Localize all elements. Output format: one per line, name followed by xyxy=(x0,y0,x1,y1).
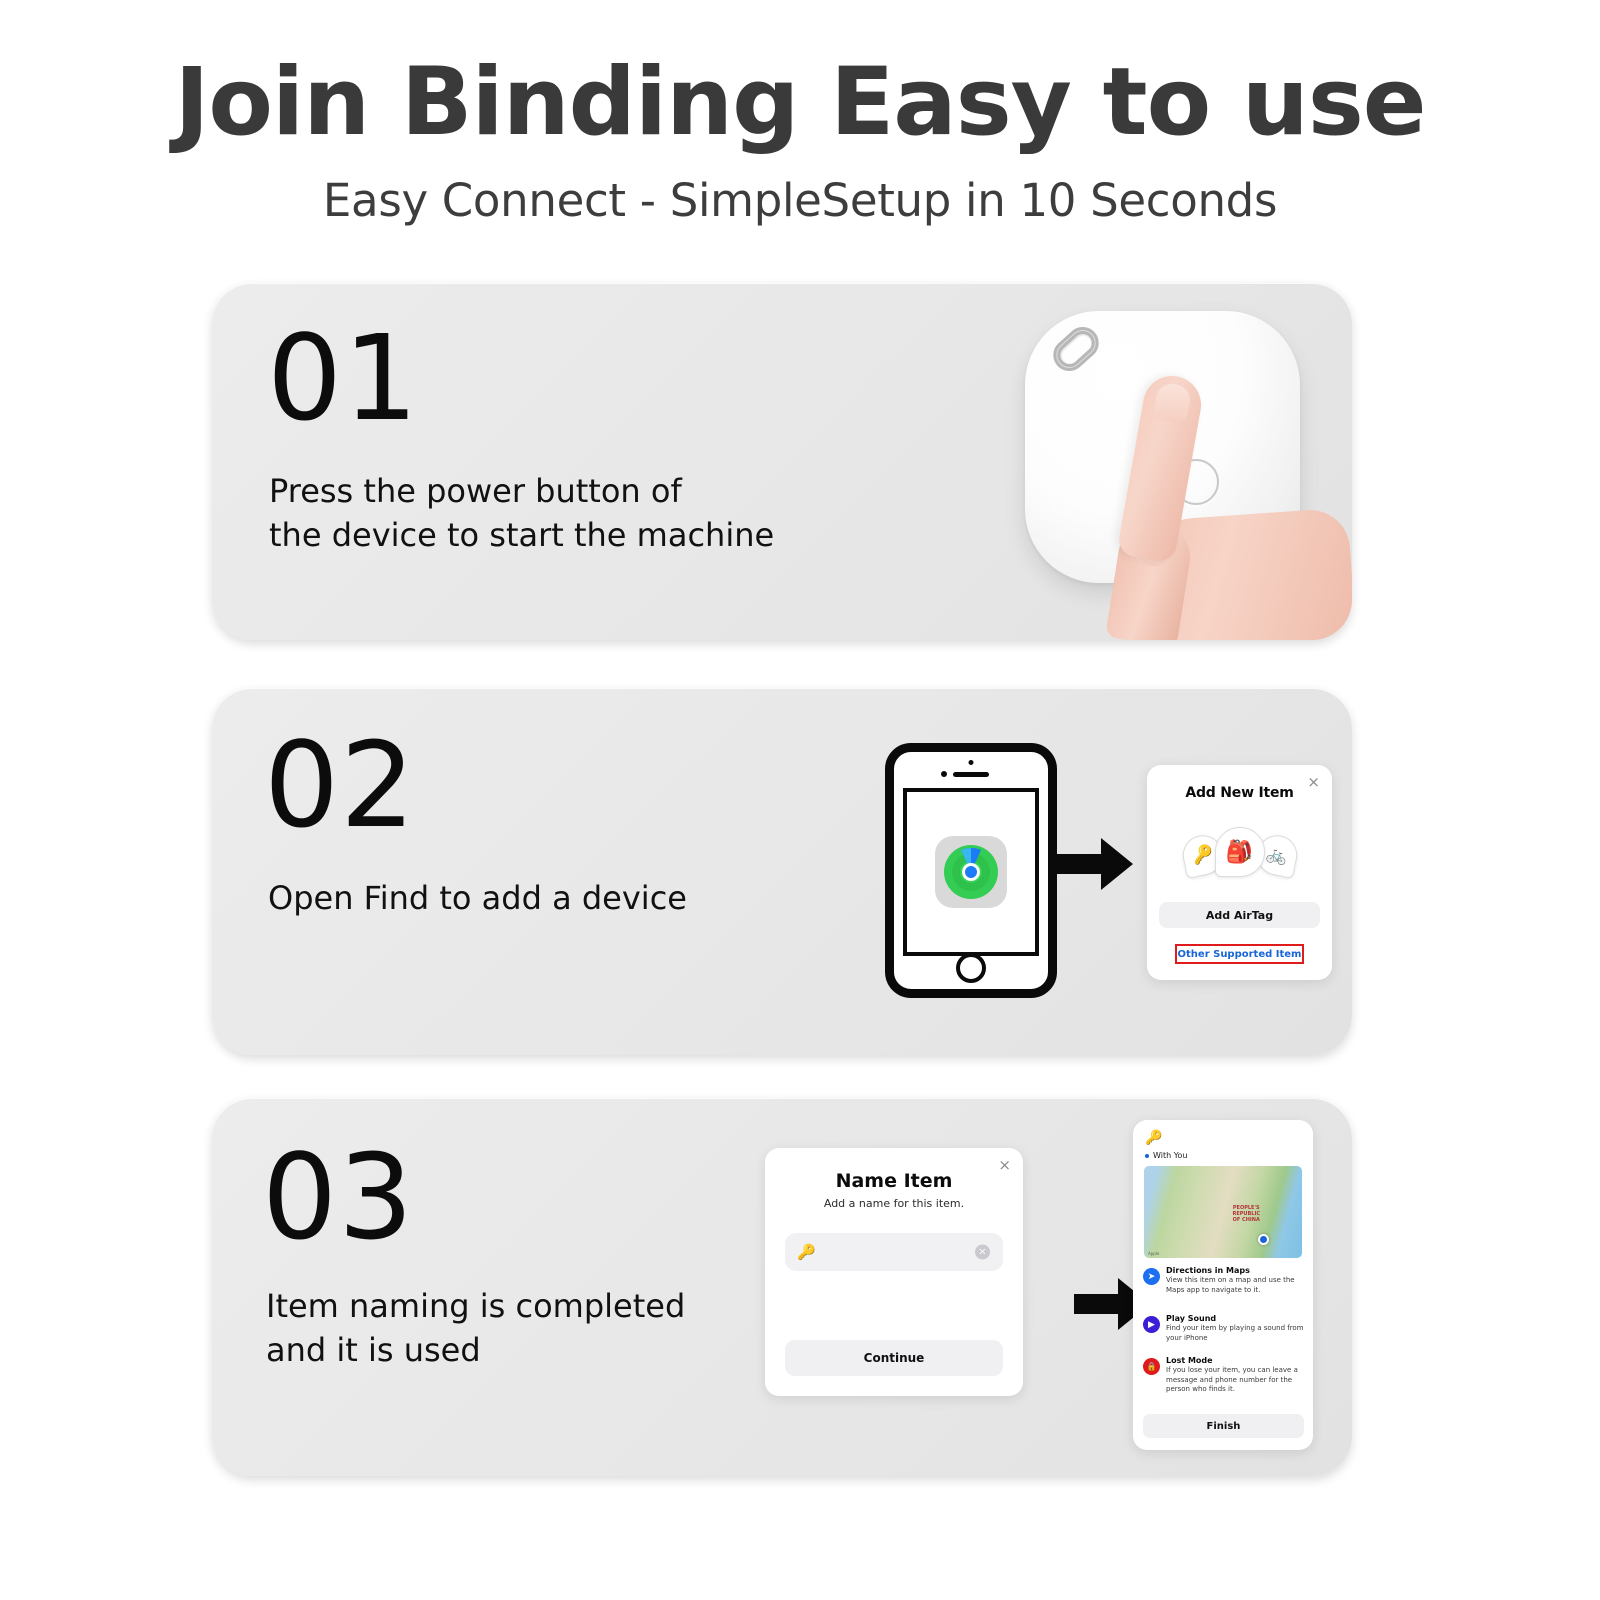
add-new-item-dialog: × Add New Item 🔑 🎒 🚲 Add AirTag Other Su… xyxy=(1147,765,1332,980)
find-my-app-icon[interactable] xyxy=(935,836,1007,908)
step-description-01: Press the power button of the device to … xyxy=(269,469,774,557)
item-detail-panel: 🔑 With You PEOPLE'S REPUBLIC OF CHINA Ap… xyxy=(1133,1120,1313,1450)
dialog-subtitle: Add a name for this item. xyxy=(765,1197,1023,1210)
play-sound-icon: ▶ xyxy=(1143,1316,1160,1333)
sensor-dot xyxy=(941,771,947,777)
page-header: Join Binding Easy to use Easy Connect - … xyxy=(0,0,1600,227)
earpiece-speaker xyxy=(953,772,989,777)
other-supported-item-link[interactable]: Other Supported Item xyxy=(1175,944,1304,964)
map-preview[interactable]: PEOPLE'S REPUBLIC OF CHINA Apple xyxy=(1144,1166,1302,1258)
page-subtitle: Easy Connect - SimpleSetup in 10 Seconds xyxy=(0,174,1600,227)
step-card-02: 02 Open Find to add a device xyxy=(212,688,1352,1055)
map-country-label: PEOPLE'S REPUBLIC OF CHINA xyxy=(1232,1205,1260,1224)
status-label: With You xyxy=(1153,1151,1188,1160)
page-title: Join Binding Easy to use xyxy=(0,52,1600,154)
clear-input-icon[interactable]: × xyxy=(975,1245,990,1260)
status-dot-icon xyxy=(1145,1154,1149,1158)
name-item-dialog: × Name Item Add a name for this item. 🔑 … xyxy=(765,1148,1023,1396)
iphone-illustration xyxy=(885,743,1057,998)
map-attribution: Apple xyxy=(1148,1251,1159,1256)
add-airtag-button[interactable]: Add AirTag xyxy=(1159,902,1320,928)
flow-arrow-icon xyxy=(1057,836,1133,892)
infographic-page: Join Binding Easy to use Easy Connect - … xyxy=(0,0,1600,1600)
dialog-title: Add New Item xyxy=(1147,785,1332,801)
item-name-input[interactable]: 🔑 × xyxy=(785,1233,1003,1271)
step-description-02: Open Find to add a device xyxy=(268,876,687,920)
step-number-03: 03 xyxy=(262,1138,414,1256)
feature-body: If you lose your item, you can leave a m… xyxy=(1166,1366,1304,1395)
close-icon[interactable]: × xyxy=(1307,775,1320,790)
item-type-bubbles: 🔑 🎒 🚲 xyxy=(1147,827,1332,877)
step-card-03: 03 Item naming is completed and it is us… xyxy=(212,1098,1352,1476)
backpack-emoji-bubble[interactable]: 🎒 xyxy=(1215,827,1265,877)
key-emoji: 🔑 xyxy=(1145,1129,1162,1146)
feature-body: View this item on a map and use the Maps… xyxy=(1166,1276,1304,1295)
feature-lost-mode[interactable]: 🔒 Lost Mode If you lose your item, you c… xyxy=(1143,1356,1304,1395)
feature-body: Find your item by playing a sound from y… xyxy=(1166,1324,1304,1343)
home-button[interactable] xyxy=(956,953,986,983)
map-location-pin-icon xyxy=(1258,1234,1269,1245)
front-camera-icon xyxy=(969,760,974,765)
feature-title: Directions in Maps xyxy=(1166,1266,1304,1275)
finger-nail xyxy=(1152,381,1192,424)
status-badge: With You xyxy=(1145,1151,1188,1160)
feature-title: Lost Mode xyxy=(1166,1356,1304,1365)
step-number-01: 01 xyxy=(267,319,419,437)
key-emoji: 🔑 xyxy=(797,1243,816,1261)
feature-title: Play Sound xyxy=(1166,1314,1304,1323)
lost-mode-lock-icon: 🔒 xyxy=(1143,1358,1160,1375)
step-number-02: 02 xyxy=(264,726,416,844)
feature-play-sound[interactable]: ▶ Play Sound Find your item by playing a… xyxy=(1143,1314,1304,1343)
lanyard-hole-icon xyxy=(1047,320,1106,377)
dialog-title: Name Item xyxy=(765,1170,1023,1192)
hand-illustration xyxy=(1082,375,1352,640)
close-icon[interactable]: × xyxy=(998,1158,1011,1173)
continue-button[interactable]: Continue xyxy=(785,1340,1003,1376)
phone-screen xyxy=(903,788,1039,956)
tracker-device-illustration xyxy=(932,283,1352,640)
directions-arrow-icon: ➤ xyxy=(1143,1268,1160,1285)
finish-button[interactable]: Finish xyxy=(1143,1414,1304,1438)
step-card-01: 01 Press the power button of the device … xyxy=(212,283,1352,640)
feature-directions-in-maps[interactable]: ➤ Directions in Maps View this item on a… xyxy=(1143,1266,1304,1295)
step-description-03: Item naming is completed and it is used xyxy=(266,1284,685,1372)
